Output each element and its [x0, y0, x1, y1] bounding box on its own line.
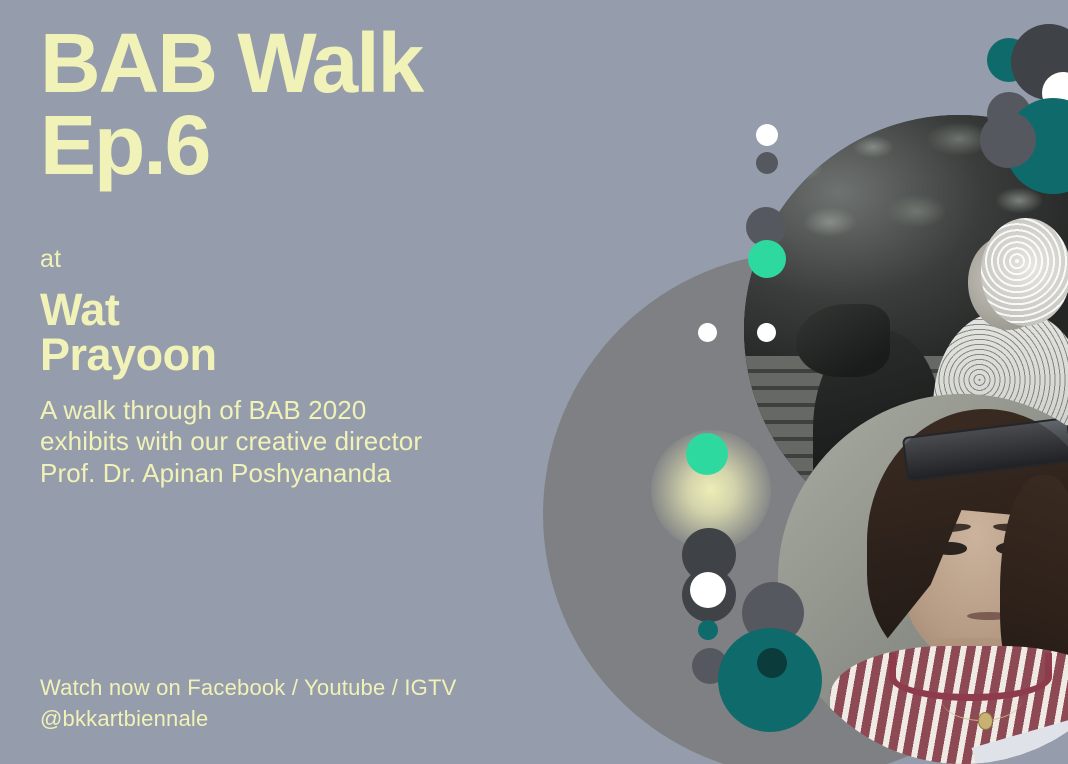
decor-dot-white-col-1 [756, 124, 778, 146]
page-title: BAB Walk Ep.6 [40, 0, 540, 187]
venue-name: Wat Prayoon [40, 287, 540, 377]
decor-dot-gray-mid-top [980, 112, 1036, 168]
decor-dot-teal-small [698, 620, 718, 640]
event-description: A walk through of BAB 2020 exhibits with… [40, 395, 540, 490]
decor-dot-white-stack [690, 572, 726, 608]
text-content: BAB Walk Ep.6 at Wat Prayoon A walk thro… [40, 0, 540, 764]
decor-dot-teal-big-bottom [718, 628, 822, 732]
decor-dot-white-pair-l [698, 323, 717, 342]
decor-dot-gray-col-1 [756, 152, 778, 174]
poster: PRINCE JODD member of Jao Jom KOOS Jao J… [0, 0, 1068, 764]
decor-dot-teal-inner-dark [757, 648, 787, 678]
at-label: at [40, 245, 540, 274]
decor-dot-white-pair-r [757, 323, 776, 342]
footer-watch-info: Watch now on Facebook / Youtube / IGTV @… [40, 672, 456, 734]
decor-dot-green-col-1 [748, 240, 786, 278]
decor-dot-green-glow [686, 433, 728, 475]
